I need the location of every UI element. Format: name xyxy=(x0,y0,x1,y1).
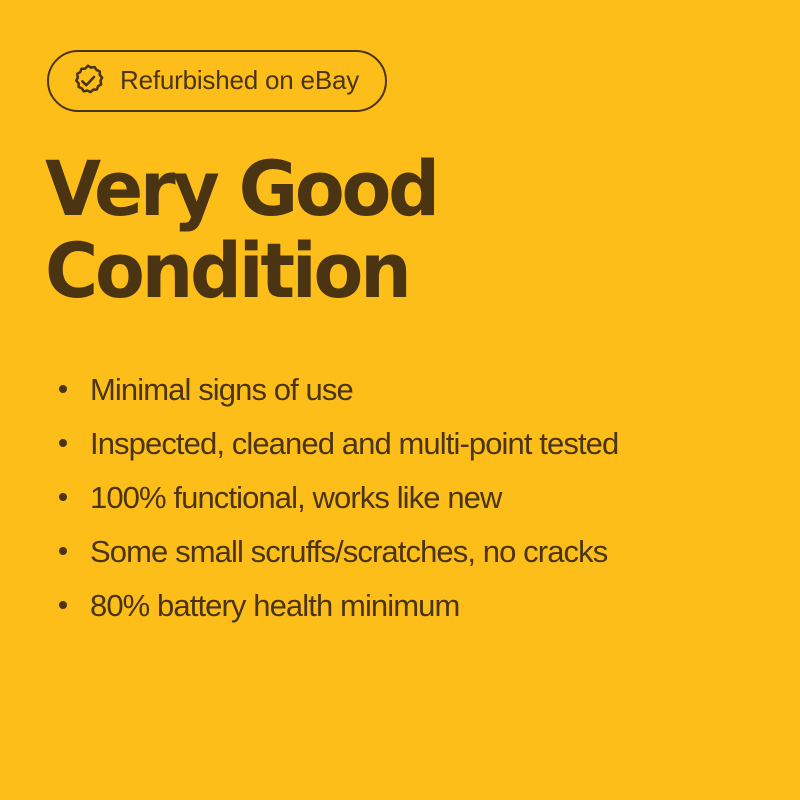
list-item-label: Some small scruffs/scratches, no cracks xyxy=(90,536,607,567)
condition-feature-list: Minimal signs of use Inspected, cleaned … xyxy=(47,362,777,632)
bullet-dot-icon xyxy=(59,385,67,393)
page-title-line-2: Condition xyxy=(45,230,714,312)
bullet-dot-icon xyxy=(59,493,67,501)
list-item: Inspected, cleaned and multi-point teste… xyxy=(47,416,777,470)
list-item: 80% battery health minimum xyxy=(47,578,777,632)
refurbished-badge-label: Refurbished on eBay xyxy=(120,67,359,95)
list-item-label: 100% functional, works like new xyxy=(90,482,502,513)
refurbished-condition-card: Refurbished on eBay Very Good Condition … xyxy=(0,0,800,800)
list-item: Minimal signs of use xyxy=(47,362,777,416)
list-item-label: Inspected, cleaned and multi-point teste… xyxy=(90,428,618,459)
list-item: Some small scruffs/scratches, no cracks xyxy=(47,524,777,578)
bullet-dot-icon xyxy=(59,439,67,447)
list-item-label: 80% battery health minimum xyxy=(90,590,459,621)
page-title-line-1: Very Good xyxy=(45,148,714,230)
list-item: 100% functional, works like new xyxy=(47,470,777,524)
bullet-dot-icon xyxy=(59,547,67,555)
page-title: Very Good Condition xyxy=(45,148,714,312)
refurbished-badge-pill: Refurbished on eBay xyxy=(47,50,387,112)
list-item-label: Minimal signs of use xyxy=(90,374,353,405)
bullet-dot-icon xyxy=(59,601,67,609)
verified-badge-check-icon xyxy=(70,63,106,99)
